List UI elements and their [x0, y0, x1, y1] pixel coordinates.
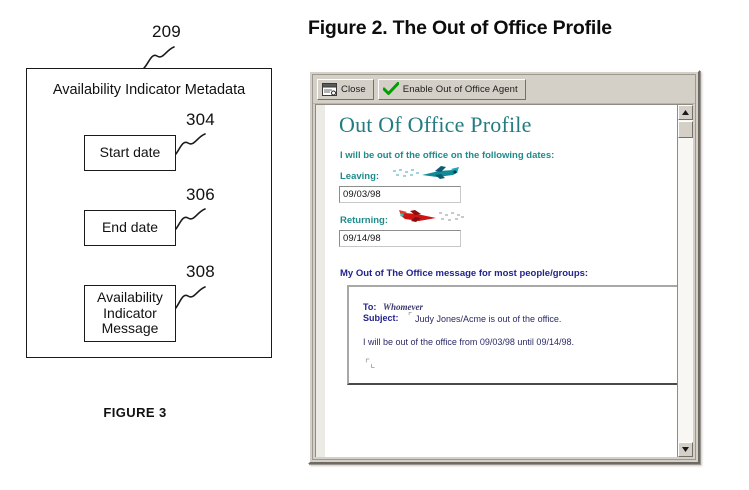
lead-line-308 [172, 284, 218, 312]
window-inner-frame: Close Enable Out of Office Agent Out Of … [312, 74, 696, 460]
enable-out-of-office-agent-button[interactable]: Enable Out of Office Agent [378, 79, 526, 100]
scroll-up-arrow-icon[interactable] [678, 105, 693, 120]
text-cursor-marker-icon: ⌜⌞ [365, 357, 375, 370]
scrollbar-thumb[interactable] [678, 121, 693, 138]
green-check-icon [383, 82, 399, 96]
document-heading: Out Of Office Profile [339, 112, 532, 138]
start-date-label: Start date [100, 145, 161, 161]
out-of-office-window: Close Enable Out of Office Agent Out Of … [308, 70, 700, 464]
message-body-text: I will be out of the office from 09/03/9… [363, 337, 574, 347]
returning-date-input[interactable]: 09/14/98 [339, 230, 461, 247]
end-date-box: End date [84, 210, 176, 246]
reference-number-308: 308 [186, 262, 215, 282]
teal-airplane-icon [391, 165, 467, 183]
out-of-office-message-box[interactable]: To: Whomever Subject: ⌜ Judy Jones/Acme … [347, 285, 677, 385]
returning-label: Returning: [340, 215, 388, 226]
out-of-office-document: Out Of Office Profile I will be out of t… [316, 105, 677, 457]
scroll-down-arrow-icon[interactable] [678, 442, 693, 457]
outer-box-label: Availability Indicator Metadata [27, 82, 271, 98]
intro-text: I will be out of the office on the follo… [340, 150, 554, 161]
red-airplane-icon [391, 209, 467, 227]
reference-number-306: 306 [186, 185, 215, 205]
close-window-icon [322, 83, 337, 96]
reference-number-209: 209 [152, 22, 181, 42]
message-to-label: To: [363, 302, 376, 312]
scrollbar-track[interactable] [678, 120, 693, 442]
availability-indicator-message-label: Availability Indicator Message [85, 290, 175, 337]
close-button-label: Close [341, 84, 366, 95]
vertical-scrollbar[interactable] [677, 105, 693, 457]
reference-number-304: 304 [186, 110, 215, 130]
leaving-label: Leaving: [340, 171, 379, 182]
message-subject-label: Subject: [363, 313, 399, 323]
document-content-pane: Out Of Office Profile I will be out of t… [315, 104, 693, 457]
figure-3-caption: FIGURE 3 [0, 405, 270, 420]
message-to-value: Whomever [383, 302, 423, 312]
message-section-heading: My Out of The Office message for most pe… [340, 268, 588, 279]
start-date-box: Start date [84, 135, 176, 171]
window-toolbar: Close Enable Out of Office Agent [313, 75, 695, 104]
figure-2-panel: Figure 2. The Out of Office Profile [300, 0, 749, 490]
leaving-date-value: 09/03/98 [343, 189, 381, 200]
message-subject-value: Judy Jones/Acme is out of the office. [415, 314, 561, 324]
leaving-date-input[interactable]: 09/03/98 [339, 186, 461, 203]
subject-field-marker-icon: ⌜ [408, 311, 412, 322]
close-button[interactable]: Close [317, 79, 374, 100]
returning-date-value: 09/14/98 [343, 233, 381, 244]
lead-line-306 [172, 207, 218, 233]
enable-agent-label: Enable Out of Office Agent [403, 84, 518, 95]
figure-2-title: Figure 2. The Out of Office Profile [308, 17, 612, 40]
end-date-label: End date [102, 220, 158, 236]
availability-indicator-message-box: Availability Indicator Message [84, 285, 176, 342]
lead-line-304 [172, 132, 218, 158]
figure-3-diagram: 209 Availability Indicator Metadata 304 … [0, 0, 300, 490]
